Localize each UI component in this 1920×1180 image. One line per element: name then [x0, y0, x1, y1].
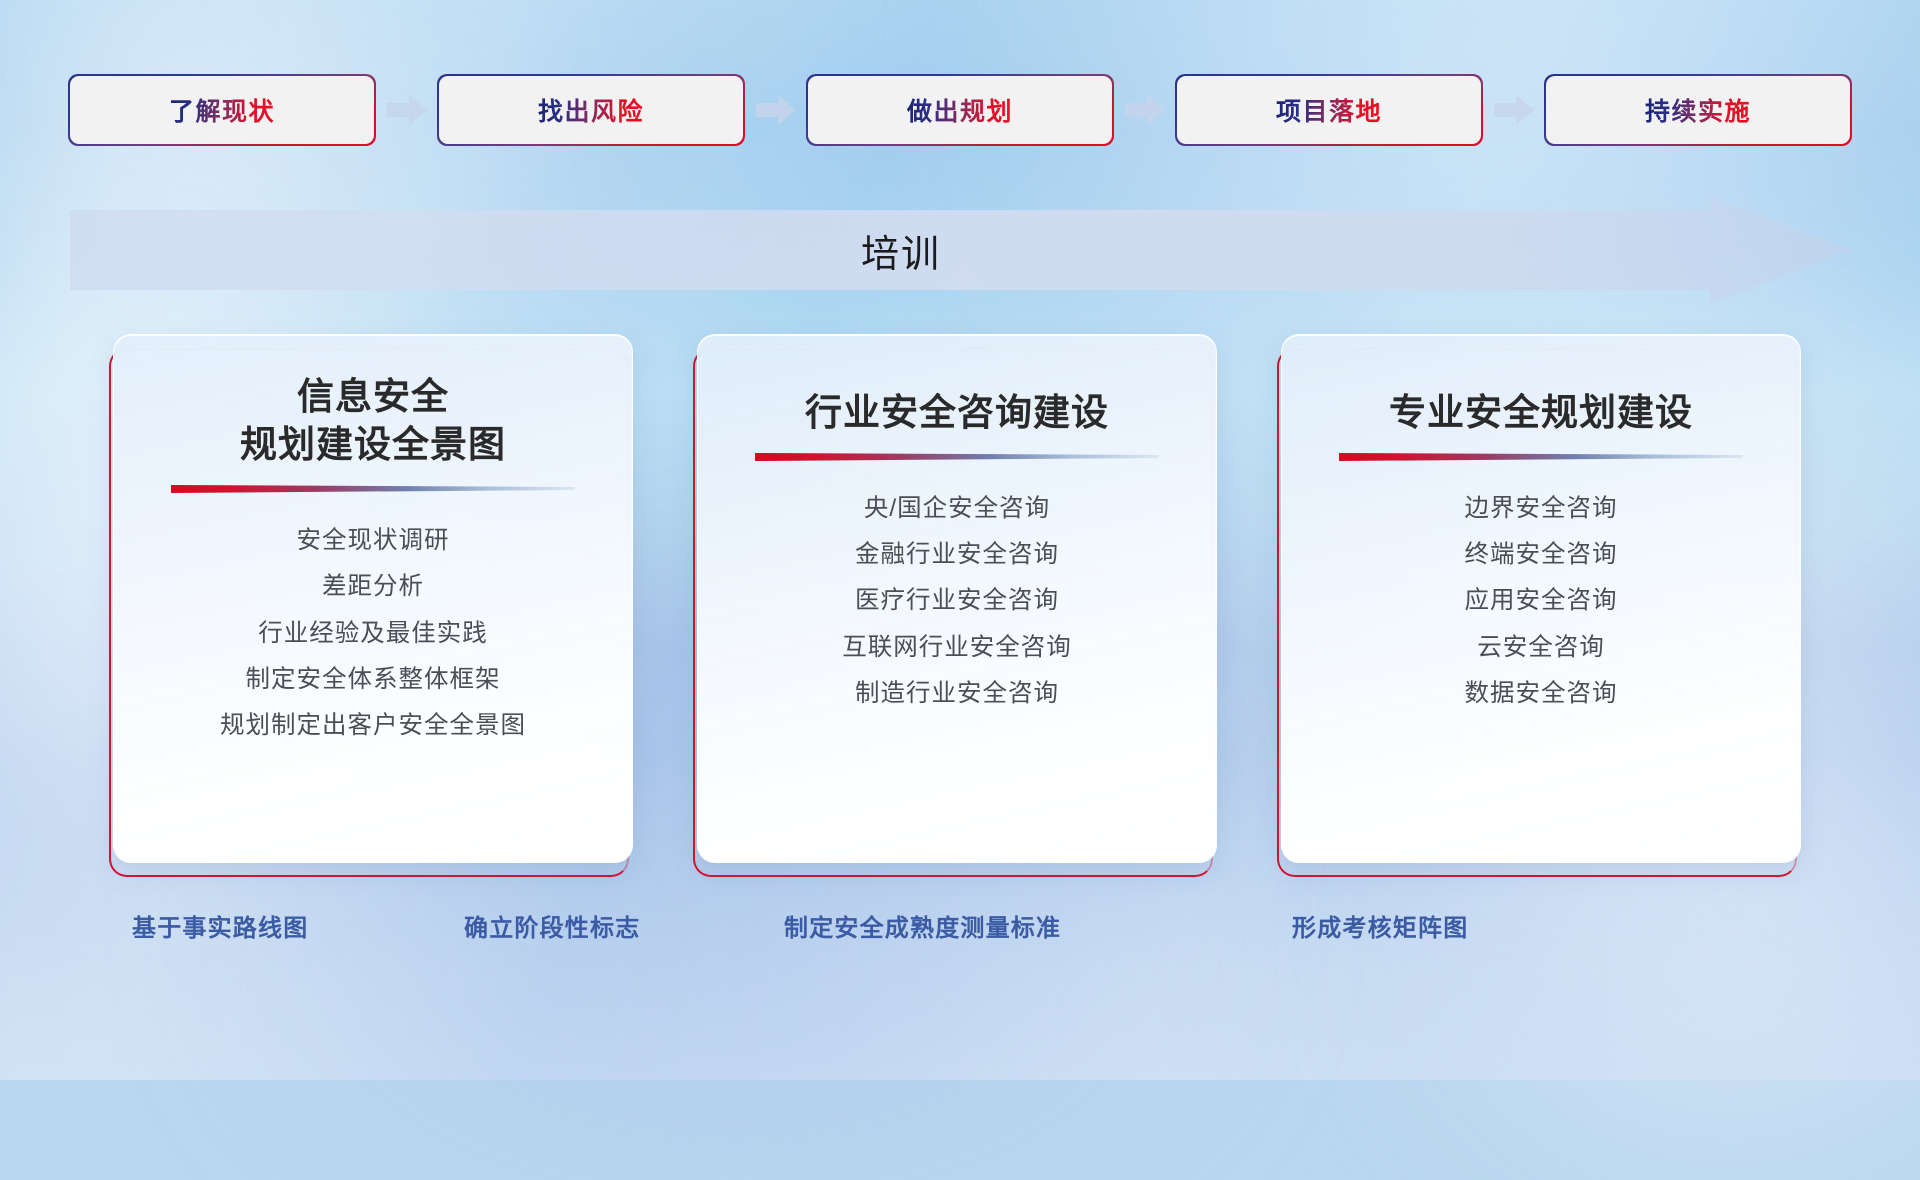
list-item: 终端安全咨询 [1465, 535, 1618, 574]
capability-card-3[interactable]: 专业安全规划建设 [1281, 334, 1801, 869]
outcome-caption-3: 制定安全成熟度测量标准 [784, 908, 1061, 943]
capability-card-1[interactable]: 信息安全 规划建设全景图 [113, 334, 633, 869]
list-item: 云安全咨询 [1477, 628, 1605, 667]
arrow-right-icon [1125, 93, 1165, 127]
card-3-title: 专业安全规划建设 [1282, 389, 1800, 437]
arrow-right-icon [756, 93, 796, 127]
list-item: 互联网行业安全咨询 [842, 628, 1072, 667]
process-step-3[interactable]: 做出规划 [808, 76, 1112, 144]
arrow-right-icon [1494, 93, 1534, 127]
capability-card-row: 信息安全 规划建设全景图 [70, 334, 1852, 869]
list-item: 制造行业安全咨询 [855, 674, 1059, 713]
process-step-5[interactable]: 持续实施 [1546, 76, 1850, 144]
process-step-1-label: 了解现状 [169, 92, 275, 128]
card-panel[interactable]: 行业安全咨询建设 [697, 334, 1217, 863]
arrow-right-icon [387, 93, 427, 127]
list-item: 金融行业安全咨询 [855, 535, 1059, 574]
process-step-2-label: 找出风险 [538, 92, 644, 128]
card-divider [171, 483, 575, 497]
outcome-caption-4: 形成考核矩阵图 [1292, 908, 1468, 943]
list-item: 应用安全咨询 [1465, 581, 1618, 620]
card-divider [1339, 451, 1743, 465]
card-3-item-list: 边界安全咨询 终端安全咨询 应用安全咨询 云安全咨询 数据安全咨询 [1282, 489, 1800, 713]
process-step-4-label: 项目落地 [1276, 92, 1382, 128]
list-item: 数据安全咨询 [1465, 674, 1618, 713]
list-item: 规划制定出客户安全全景图 [220, 706, 526, 745]
process-step-row: 了解现状 找出风险 做出规划 项目落地 [70, 76, 1850, 144]
slide-canvas: 了解现状 找出风险 做出规划 项目落地 [0, 0, 1920, 1080]
list-item: 制定安全体系整体框架 [246, 660, 501, 699]
card-1-item-list: 安全现状调研 差距分析 行业经验及最佳实践 制定安全体系整体框架 规划制定出客户… [114, 521, 632, 745]
list-item: 差距分析 [322, 567, 424, 606]
card-panel[interactable]: 信息安全 规划建设全景图 [113, 334, 633, 863]
process-step-1[interactable]: 了解现状 [70, 76, 374, 144]
card-divider [755, 451, 1159, 465]
outcome-caption-row: 基于事实路线图 确立阶段性标志 制定安全成熟度测量标准 形成考核矩阵图 [0, 908, 1920, 958]
list-item: 边界安全咨询 [1465, 489, 1618, 528]
card-panel[interactable]: 专业安全规划建设 [1281, 334, 1801, 863]
list-item: 医疗行业安全咨询 [855, 581, 1059, 620]
process-step-4[interactable]: 项目落地 [1177, 76, 1481, 144]
training-banner: 培训 [70, 196, 1852, 304]
outcome-caption-2: 确立阶段性标志 [464, 908, 640, 943]
process-step-5-label: 持续实施 [1645, 92, 1751, 128]
capability-card-2[interactable]: 行业安全咨询建设 [697, 334, 1217, 869]
card-1-title: 信息安全 规划建设全景图 [114, 373, 632, 469]
outcome-caption-1: 基于事实路线图 [132, 908, 308, 943]
list-item: 安全现状调研 [297, 521, 450, 560]
process-step-2[interactable]: 找出风险 [439, 76, 743, 144]
process-step-3-label: 做出规划 [907, 92, 1013, 128]
training-banner-label: 培训 [70, 196, 1852, 304]
list-item: 央/国企安全咨询 [864, 489, 1050, 528]
card-2-item-list: 央/国企安全咨询 金融行业安全咨询 医疗行业安全咨询 互联网行业安全咨询 制造行… [698, 489, 1216, 713]
card-2-title: 行业安全咨询建设 [698, 389, 1216, 437]
list-item: 行业经验及最佳实践 [258, 614, 488, 653]
